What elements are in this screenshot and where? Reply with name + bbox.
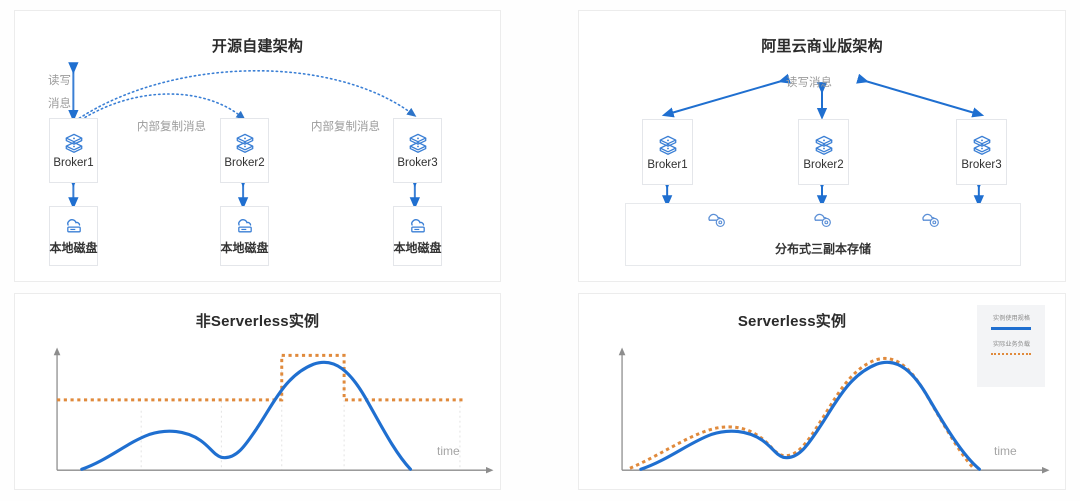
cloud-lock-icon-3 [919, 209, 943, 236]
arc-replicate-broker1-broker2 [77, 94, 242, 122]
local-disk-icon [63, 216, 85, 236]
node-broker1-label: Broker1 [53, 157, 93, 169]
node-aliyun-broker1: Broker1 [642, 119, 693, 185]
node-broker3: Broker3 [393, 118, 442, 183]
arc-replicate-broker1-broker3 [79, 71, 413, 118]
legend-swatch-dotted-orange [991, 353, 1031, 355]
node-aliyun-broker1-label: Broker1 [647, 159, 687, 171]
label-readwrite-messages: 读写消息 [786, 76, 832, 91]
legend-label-instance-spec: 实例使用规格 [992, 312, 1029, 322]
node-local-disk-2-label: 本地磁盘 [221, 239, 269, 256]
panel-serverless-chart: Serverless实例 time 实例使用规格 实际业务负载 [578, 293, 1066, 490]
cloud-lock-icon [919, 209, 943, 231]
page-title-aliyun: 阿里云商业版架构 [579, 35, 1065, 56]
node-aliyun-broker2-label: Broker2 [803, 159, 843, 171]
node-local-disk-3-label: 本地磁盘 [394, 239, 442, 256]
panel-non-serverless-chart: 非Serverless实例 t [14, 293, 501, 490]
arrow-rw-broker1 [667, 80, 783, 114]
chart-x-axis-label: time [437, 444, 460, 458]
node-broker2-label: Broker2 [224, 157, 264, 169]
cloud-lock-icon [705, 209, 729, 231]
node-broker3-label: Broker3 [397, 157, 437, 169]
legend-swatch-solid-blue [991, 327, 1031, 330]
series-instance-spec-line [641, 362, 980, 469]
node-local-disk-2: 本地磁盘 [220, 206, 269, 266]
cloud-lock-icon-2 [811, 209, 835, 236]
node-aliyun-broker3-label: Broker3 [961, 159, 1001, 171]
node-broker2: Broker2 [220, 118, 269, 183]
node-local-disk-3: 本地磁盘 [393, 206, 442, 266]
label-internal-replicate-2: 内部复制消息 [311, 120, 380, 135]
arrow-rw-broker3 [864, 80, 979, 114]
local-disk-icon [407, 216, 429, 236]
cloud-lock-icon-1 [705, 209, 729, 236]
node-local-disk-1-label: 本地磁盘 [50, 239, 98, 256]
legend-label-actual-load: 实际业务负载 [992, 338, 1029, 348]
series-actual-load-dotted [630, 358, 973, 468]
local-disk-icon [234, 216, 256, 236]
chart-legend: 实例使用规格 实际业务负载 [977, 305, 1045, 387]
series-spec-step-line [57, 355, 465, 400]
node-aliyun-broker3: Broker3 [956, 119, 1007, 185]
page-title-open-source: 开源自建架构 [15, 35, 500, 56]
label-readwrite-line2: 消息 [48, 97, 71, 112]
chart-x-axis-label: time [994, 444, 1017, 458]
node-broker1: Broker1 [49, 118, 98, 183]
label-internal-replicate-1: 内部复制消息 [137, 120, 206, 135]
chart-gridlines [141, 355, 460, 470]
distributed-storage-caption: 分布式三副本存储 [626, 240, 1020, 257]
cloud-lock-icon [811, 209, 835, 231]
broker-cube-icon [971, 134, 993, 156]
infographic-canvas: 开源自建架构 读写 消息 内 [0, 0, 1080, 501]
node-local-disk-1: 本地磁盘 [49, 206, 98, 266]
broker-cube-icon [813, 134, 835, 156]
broker-cube-icon [657, 134, 679, 156]
broker-cube-icon [407, 132, 429, 154]
broker-cube-icon [234, 132, 256, 154]
series-actual-load-line [82, 362, 411, 469]
broker-cube-icon [63, 132, 85, 154]
node-aliyun-broker2: Broker2 [798, 119, 849, 185]
label-readwrite-line1: 读写 [48, 74, 71, 89]
chart-title-non-serverless: 非Serverless实例 [15, 310, 500, 331]
panel-aliyun-architecture: 阿里云商业版架构 读写消息 [578, 10, 1066, 282]
panel-open-source-architecture: 开源自建架构 读写 消息 内 [14, 10, 501, 282]
